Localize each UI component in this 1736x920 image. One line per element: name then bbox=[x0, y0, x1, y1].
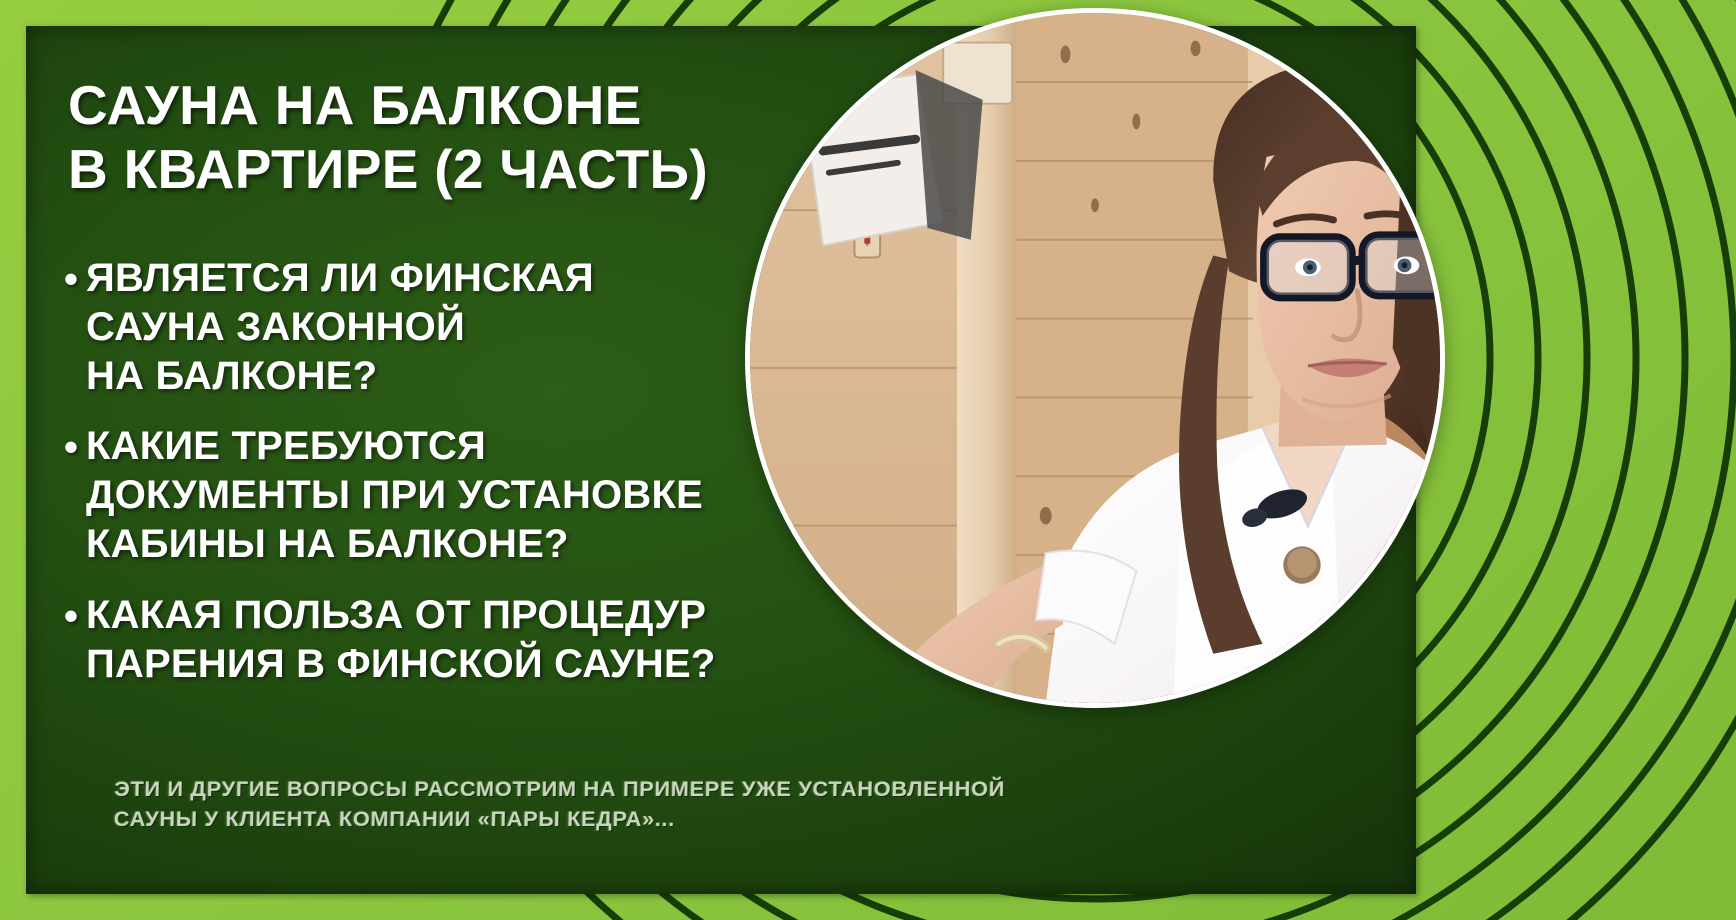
footer-note: ЭТИ И ДРУГИЕ ВОПРОСЫ РАССМОТРИМ НА ПРИМЕ… bbox=[113, 775, 988, 836]
bullet-dot-icon: • bbox=[56, 254, 86, 304]
bullet-2-line-1: КАКИЕ ТРЕБУЮТСЯ bbox=[86, 422, 703, 471]
bullet-dot-icon: • bbox=[56, 422, 86, 472]
bullet-dot-icon: • bbox=[56, 591, 86, 641]
bullet-3-line-2: ПАРЕНИЯ В ФИНСКОЙ САУНЕ? bbox=[86, 640, 716, 689]
page-title: САУНА НА БАЛКОНЕ В КВАРТИРЕ (2 ЧАСТЬ) bbox=[68, 74, 868, 202]
title-line-2: В КВАРТИРЕ (2 ЧАСТЬ) bbox=[68, 138, 868, 202]
bullet-1-line-1: ЯВЛЯЕТСЯ ЛИ ФИНСКАЯ bbox=[86, 254, 594, 303]
presenter-photo bbox=[745, 8, 1445, 708]
title-line-1: САУНА НА БАЛКОНЕ bbox=[68, 74, 868, 138]
bullet-2-line-3: КАБИНЫ НА БАЛКОНЕ? bbox=[86, 520, 703, 569]
bullet-text: КАКИЕ ТРЕБУЮТСЯ ДОКУМЕНТЫ ПРИ УСТАНОВКЕ … bbox=[86, 422, 703, 568]
footer-line-2: САУНЫ У КЛИЕНТА КОМПАНИИ «ПАРЫ КЕДРА»... bbox=[113, 806, 987, 836]
list-item: • КАКАЯ ПОЛЬЗА ОТ ПРОЦЕДУР ПАРЕНИЯ В ФИН… bbox=[56, 591, 816, 689]
bullet-3-line-1: КАКАЯ ПОЛЬЗА ОТ ПРОЦЕДУР bbox=[86, 591, 716, 640]
presenter-photo-image bbox=[750, 13, 1440, 703]
bullet-text: ЯВЛЯЕТСЯ ЛИ ФИНСКАЯ САУНА ЗАКОННОЙ НА БА… bbox=[86, 254, 594, 400]
video-thumbnail: САУНА НА БАЛКОНЕ В КВАРТИРЕ (2 ЧАСТЬ) • … bbox=[0, 0, 1736, 920]
bullet-text: КАКАЯ ПОЛЬЗА ОТ ПРОЦЕДУР ПАРЕНИЯ В ФИНСК… bbox=[86, 591, 716, 689]
list-item: • ЯВЛЯЕТСЯ ЛИ ФИНСКАЯ САУНА ЗАКОННОЙ НА … bbox=[56, 254, 816, 400]
bullet-1-line-3: НА БАЛКОНЕ? bbox=[86, 352, 594, 401]
bullet-1-line-2: САУНА ЗАКОННОЙ bbox=[86, 303, 594, 352]
footer-line-1: ЭТИ И ДРУГИЕ ВОПРОСЫ РАССМОТРИМ НА ПРИМЕ… bbox=[114, 775, 988, 805]
bullet-list: • ЯВЛЯЕТСЯ ЛИ ФИНСКАЯ САУНА ЗАКОННОЙ НА … bbox=[56, 254, 816, 710]
list-item: • КАКИЕ ТРЕБУЮТСЯ ДОКУМЕНТЫ ПРИ УСТАНОВК… bbox=[56, 422, 816, 568]
bullet-2-line-2: ДОКУМЕНТЫ ПРИ УСТАНОВКЕ bbox=[86, 471, 703, 520]
